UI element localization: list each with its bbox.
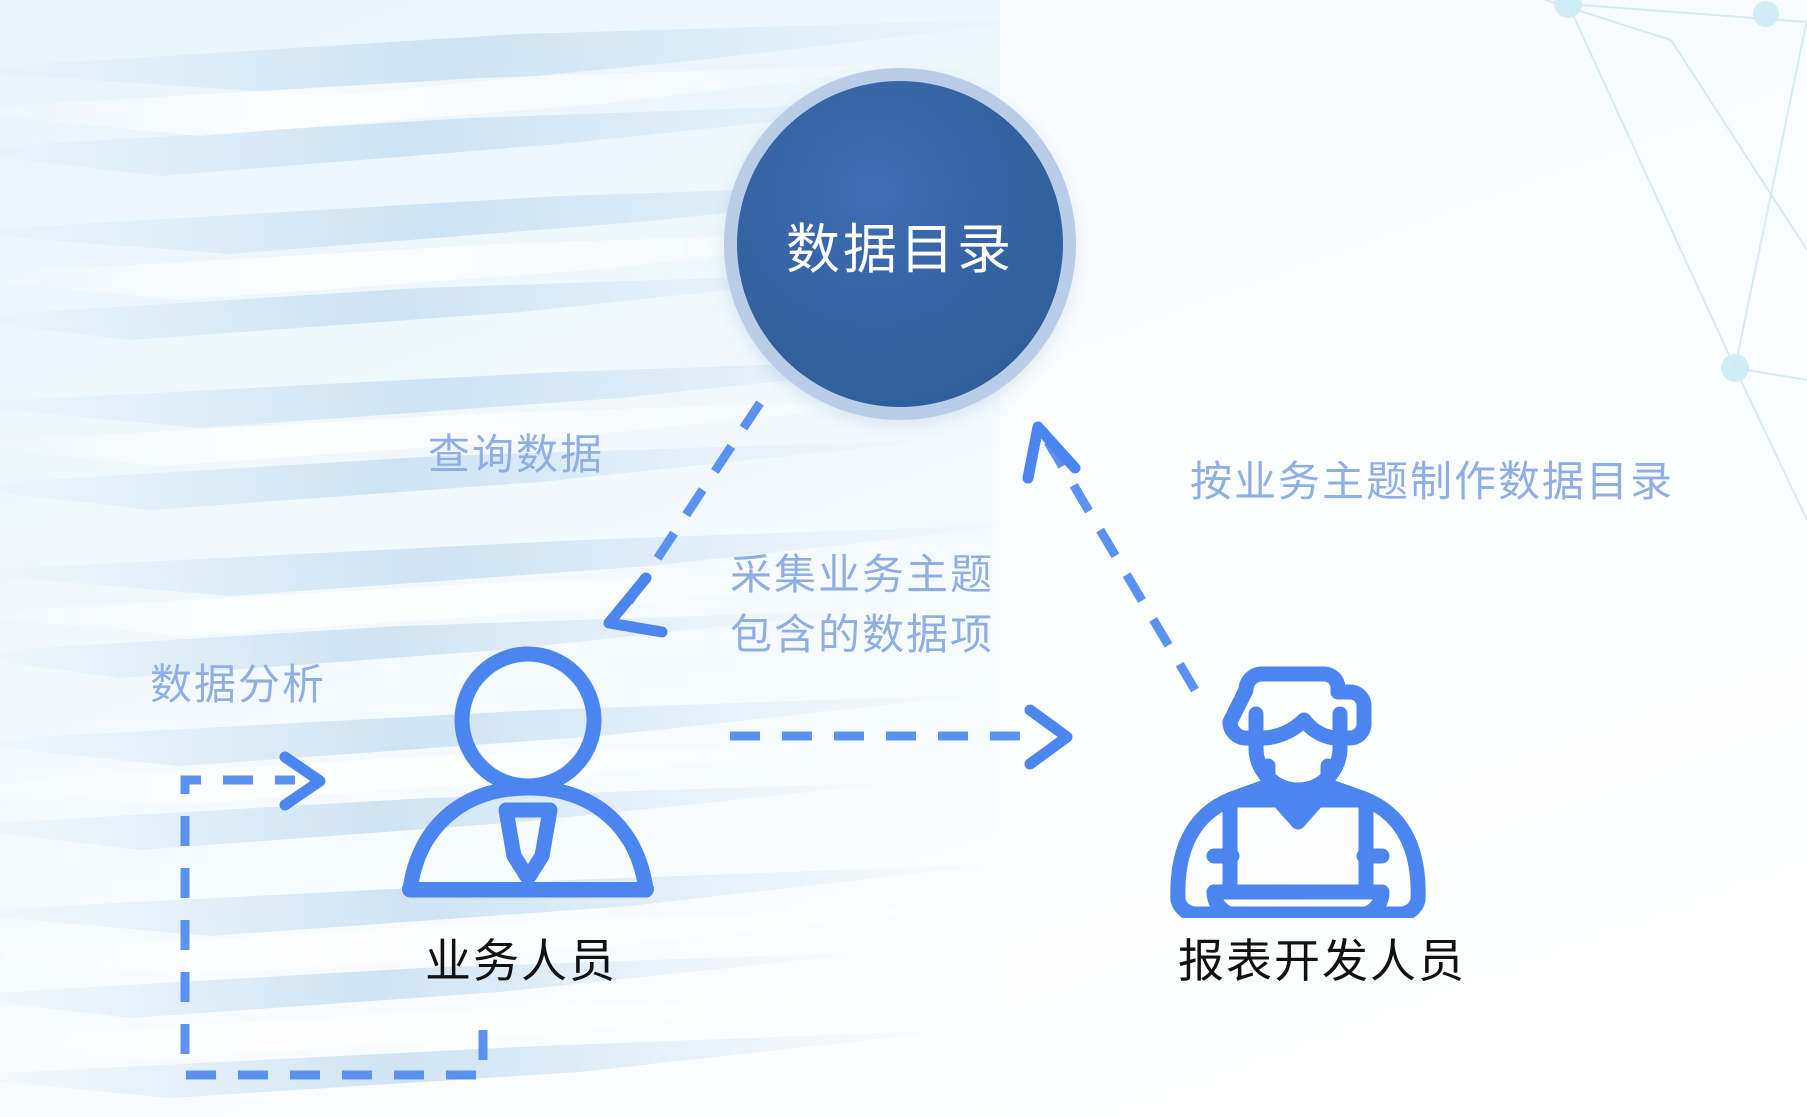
diagram-canvas: .dash { stroke:#5b92f0; stroke-width:9; … (0, 0, 1807, 1117)
edge-label-query-data: 查询数据 (428, 425, 604, 485)
edge-label-build-catalog: 按业务主题制作数据目录 (1190, 452, 1674, 512)
central-node-label: 数据目录 (786, 205, 1014, 284)
business-person-icon[interactable] (388, 638, 668, 918)
edge-label-collect-items-line1: 采集业务主题 (730, 545, 994, 605)
central-node-data-catalog[interactable]: 数据目录 (724, 68, 1076, 420)
edge-collect-items (730, 710, 1067, 764)
actor-label-business-person: 业务人员 (425, 925, 617, 991)
report-developer-icon[interactable] (1148, 618, 1448, 918)
edge-label-collect-items-line2: 包含的数据项 (730, 605, 994, 665)
actor-label-report-developer: 报表开发人员 (1178, 925, 1466, 991)
edge-label-collect-items: 采集业务主题 包含的数据项 (730, 545, 994, 664)
edge-label-data-analysis: 数据分析 (150, 655, 326, 715)
